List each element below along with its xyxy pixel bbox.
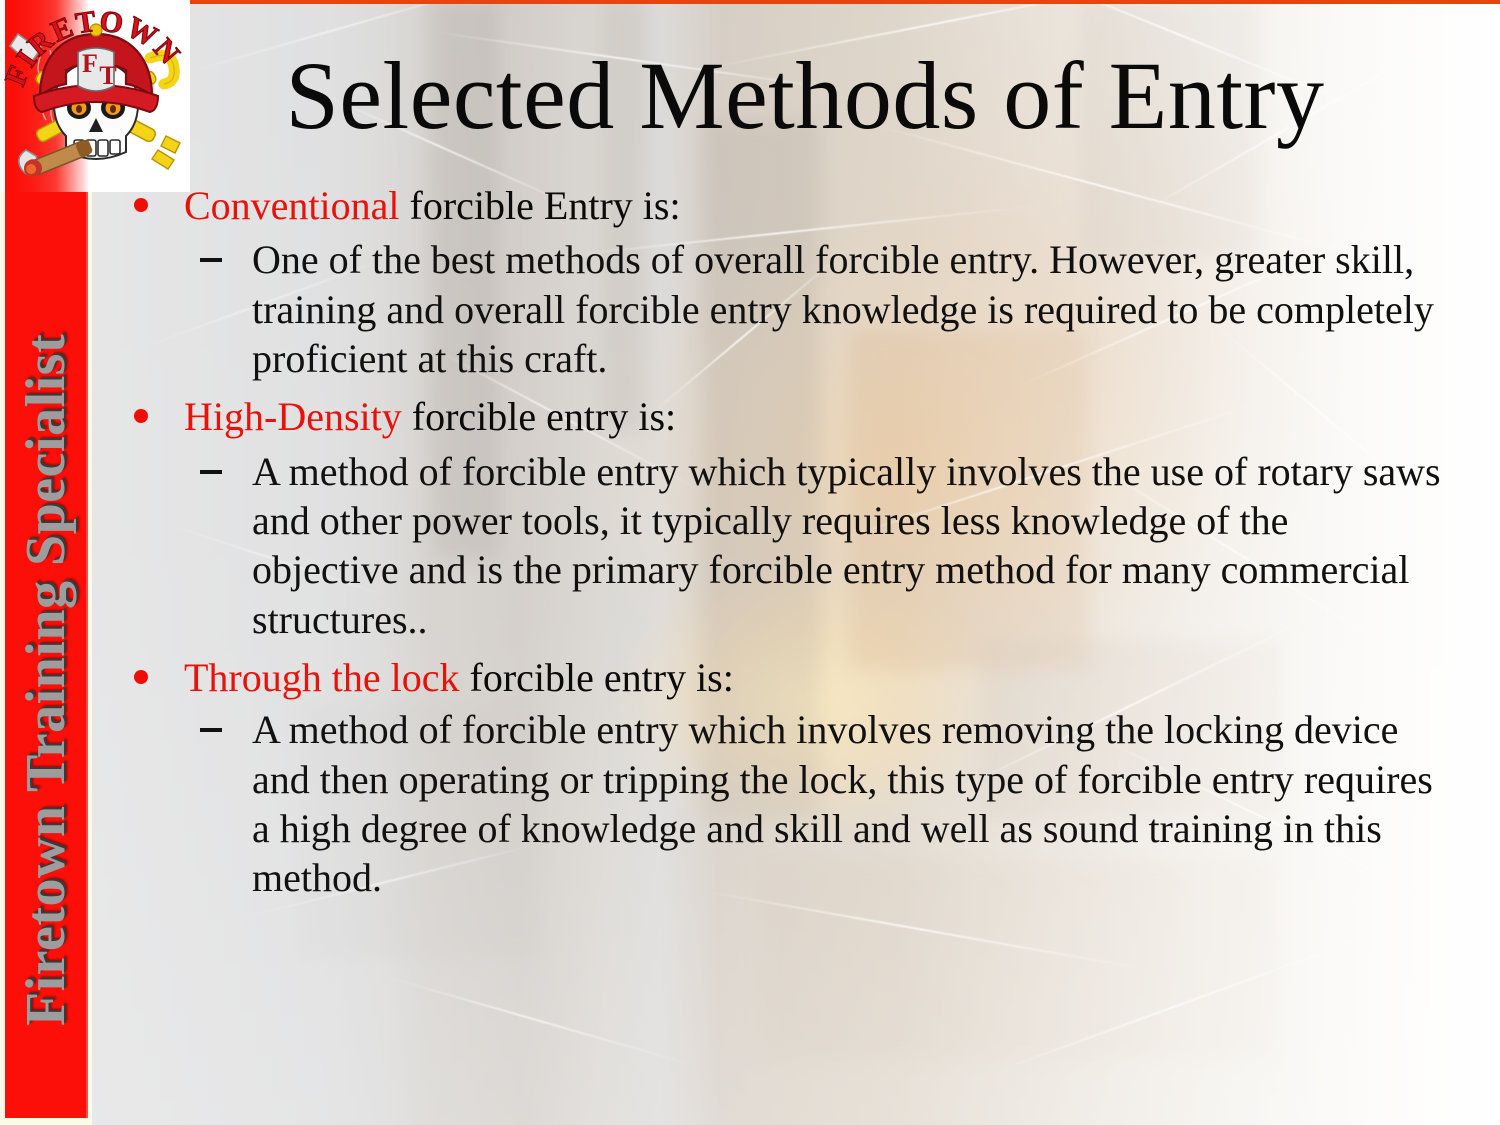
sub-bullet-text: A method of forcible entry which typical… xyxy=(252,449,1441,642)
bullet-highlight-term: Conventional xyxy=(184,183,400,228)
bullet-dot-icon xyxy=(134,409,148,423)
bullet-dash-icon xyxy=(200,258,222,262)
bullet-dot-icon xyxy=(134,198,148,212)
firetown-logo: F T FIRETOWN xyxy=(0,0,190,192)
bullet-dot-icon xyxy=(134,670,148,684)
firetown-skull-helmet-icon: F T FIRETOWN xyxy=(0,0,190,192)
bullet-dash-icon xyxy=(200,728,222,732)
bullet-level1-high-density: High-Density forcible entry is: xyxy=(112,393,1442,440)
bullet-highlight-term: Through the lock xyxy=(184,655,460,700)
bullet-dash-icon xyxy=(200,470,222,474)
bullet-level1-through-the-lock: Through the lock forcible entry is: xyxy=(112,654,1442,701)
slide-body: Conventional forcible Entry is: One of t… xyxy=(112,182,1442,913)
svg-text:F: F xyxy=(82,49,98,78)
sidebar-label-wrap: Firetown Training Specialist xyxy=(5,250,88,1110)
bullet-rest-text: forcible Entry is: xyxy=(400,183,681,228)
sub-bullet-text: One of the best methods of overall forci… xyxy=(252,237,1434,381)
sub-bullet-text: A method of forcible entry which involve… xyxy=(252,707,1433,900)
bullet-rest-text: forcible entry is: xyxy=(402,394,676,439)
bullet-rest-text: forcible entry is: xyxy=(460,655,734,700)
sub-bullet-through-the-lock: A method of forcible entry which involve… xyxy=(112,705,1442,903)
bullet-level1-conventional: Conventional forcible Entry is: xyxy=(112,182,1442,229)
bullet-highlight-term: High-Density xyxy=(184,394,402,439)
top-accent-rule xyxy=(88,0,1500,4)
sub-bullet-conventional: One of the best methods of overall forci… xyxy=(112,235,1442,383)
sidebar-label: Firetown Training Specialist xyxy=(15,334,79,1026)
page-title: Selected Methods of Entry xyxy=(140,48,1470,144)
sub-bullet-high-density: A method of forcible entry which typical… xyxy=(112,447,1442,645)
svg-text:T: T xyxy=(99,61,116,90)
presentation-slide: Firetown Training Specialist xyxy=(0,0,1500,1125)
